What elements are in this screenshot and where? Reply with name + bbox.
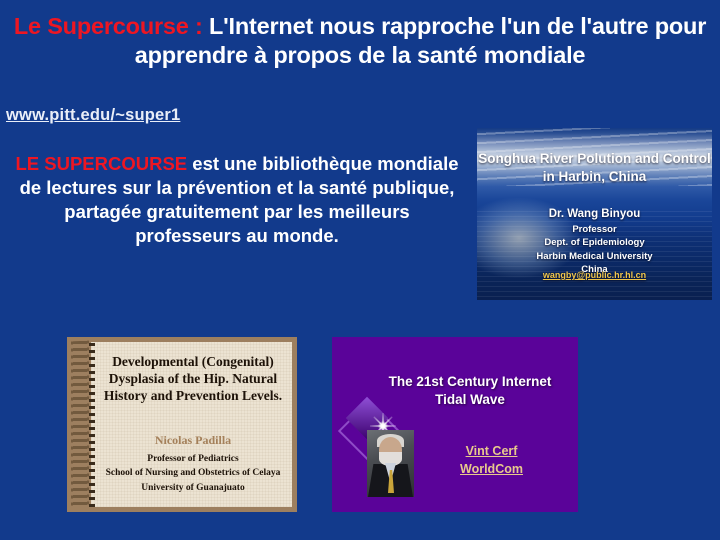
slide-title-rest: L'Internet nous rapproche l'un de l'autr…	[135, 13, 706, 68]
slide-body-highlight: LE SUPERCOURSE	[15, 153, 187, 174]
dysplasia-author: Nicolas Padilla	[97, 433, 289, 448]
songhua-title: Songhua River Polution and Control in Ha…	[477, 150, 712, 185]
presentation-slide: Le Supercourse : L'Internet nous rapproc…	[0, 0, 720, 540]
slide-body-text: LE SUPERCOURSE est une bibliothèque mond…	[14, 152, 460, 248]
supercourse-url-link[interactable]: www.pitt.edu/~super1	[6, 106, 180, 125]
dysplasia-affiliation: Professor of Pediatrics School of Nursin…	[95, 452, 291, 495]
speaker-portrait-photo	[367, 430, 414, 497]
tidal-speaker-org[interactable]: WorldCom	[427, 460, 556, 478]
slide-title-highlight: Le Supercourse :	[14, 13, 203, 39]
songhua-email-link[interactable]: wangby@public.hr.hl.cn	[477, 270, 712, 280]
songhua-presenter: Dr. Wang Binyou	[477, 208, 712, 220]
thumbnail-internet-tidal-wave[interactable]: The 21st Century Internet Tidal Wave Vin…	[332, 337, 578, 512]
tidal-speaker-block: Vint Cerf WorldCom	[427, 442, 556, 478]
tidal-speaker-name[interactable]: Vint Cerf	[427, 442, 556, 460]
thumbnail-songhua-river[interactable]: Songhua River Polution and Control in Ha…	[477, 128, 712, 300]
slide-title: Le Supercourse : L'Internet nous rapproc…	[8, 12, 712, 69]
dysplasia-title: Developmental (Congenital) Dysplasia of …	[97, 353, 289, 404]
tidal-title: The 21st Century Internet Tidal Wave	[372, 373, 568, 409]
songhua-affiliation: Professor Dept. of Epidemiology Harbin M…	[477, 223, 712, 277]
thumbnail-hip-dysplasia[interactable]: Developmental (Congenital) Dysplasia of …	[67, 337, 297, 512]
